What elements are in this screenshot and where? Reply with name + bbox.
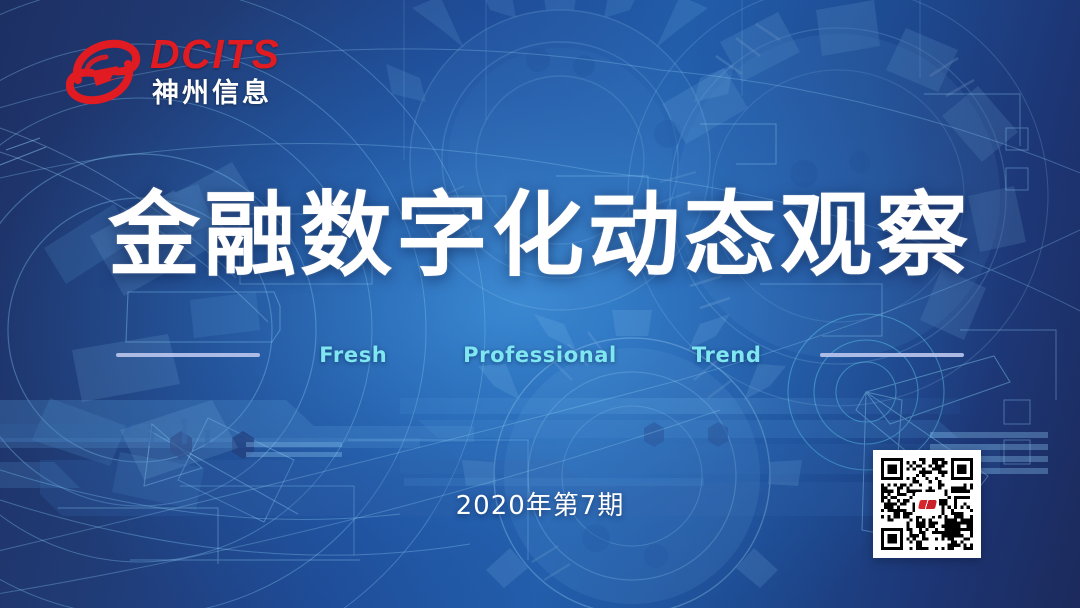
tagline-rule-right <box>820 353 964 357</box>
page-title: 金融数字化动态观察 <box>0 186 1080 285</box>
qr-center-mark-icon <box>918 500 937 509</box>
qr-modules <box>881 458 973 550</box>
tagline-row: Fresh Professional Trend <box>0 339 1080 371</box>
brand-logo: DCITS 神州信息 <box>66 30 316 122</box>
tagline-rule-left <box>116 353 260 357</box>
tagline-words: Fresh Professional Trend <box>260 343 820 367</box>
logo-chinese-name: 神州信息 <box>152 80 272 107</box>
logo-latin-name: DCITS <box>150 34 281 75</box>
tagline-word-fresh: Fresh <box>260 343 447 367</box>
tagline-word-trend: Trend <box>633 343 820 367</box>
qr-center-logo <box>915 492 939 516</box>
poster-canvas: DCITS 神州信息 金融数字化动态观察 Fresh Professional … <box>0 0 1080 608</box>
dcits-swirl-icon <box>66 36 142 108</box>
tagline-word-professional: Professional <box>447 343 634 367</box>
qr-code[interactable] <box>873 450 981 558</box>
